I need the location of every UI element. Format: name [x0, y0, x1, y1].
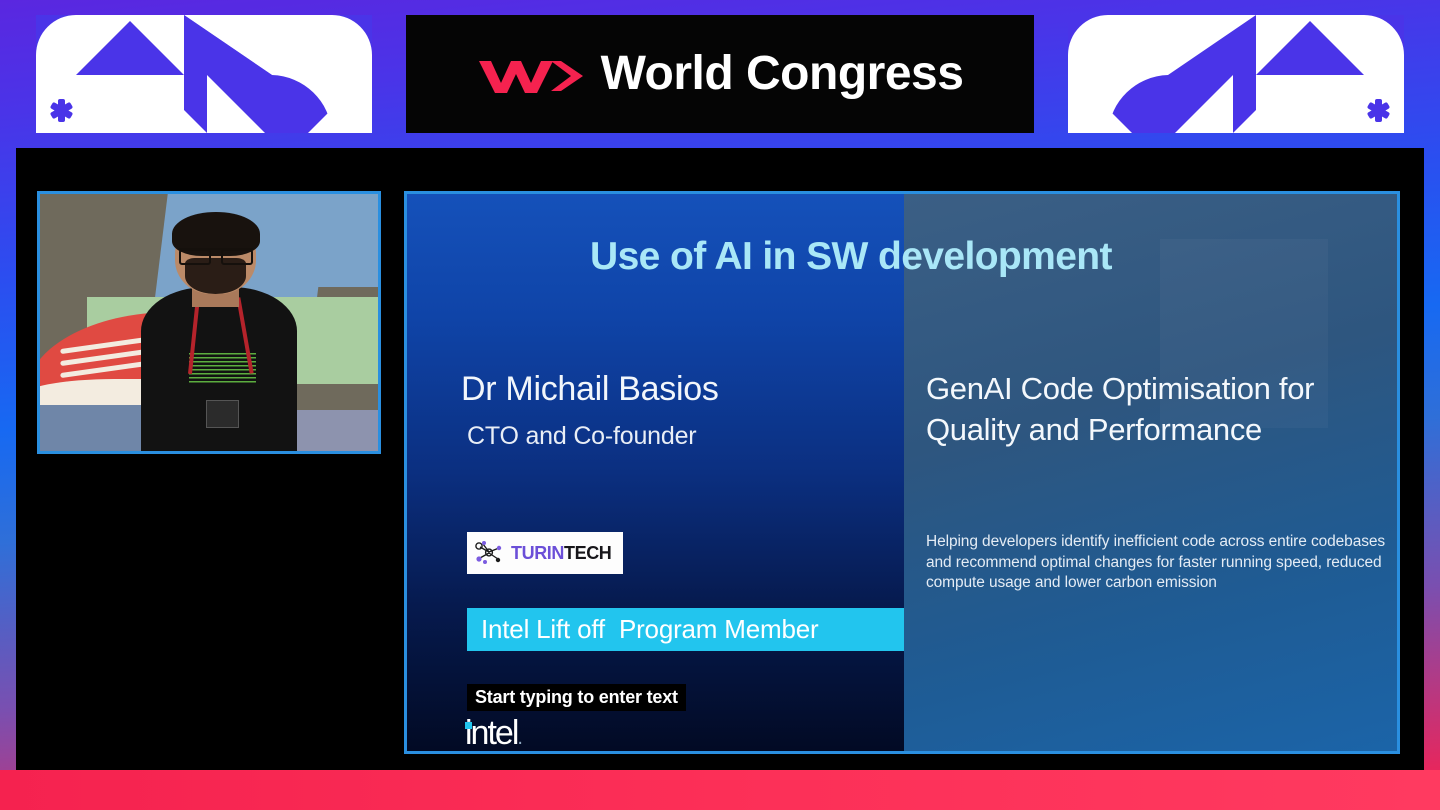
presentation-slide[interactable]: Dr Michail Basios CTO and Co-founder [404, 191, 1400, 754]
stage-content-area: Dr Michail Basios CTO and Co-founder [16, 148, 1424, 770]
wm-geometric-logo-right-icon [1068, 15, 1404, 133]
banner-title: World Congress [601, 50, 964, 98]
bottom-accent-bar [0, 770, 1440, 810]
intel-liftoff-badge-label: Intel Lift off Program Member [467, 614, 818, 645]
slide-title: Use of AI in SW development [590, 235, 1400, 279]
wm-geometric-logo-left-icon [36, 15, 372, 133]
wm-mark-icon [477, 51, 585, 97]
presenter-name: Dr Michail Basios [461, 370, 719, 409]
turintech-wordmark: TURINTECH [511, 543, 611, 564]
speaker-badge [206, 400, 240, 428]
speaker-glasses-icon [179, 248, 253, 258]
presenter-role: CTO and Co-founder [467, 422, 696, 451]
slide-body-text: Helping developers identify inefficient … [926, 532, 1400, 594]
text-placeholder-hint[interactable]: Start typing to enter text [467, 684, 686, 711]
intel-liftoff-badge: Intel Lift off Program Member [467, 608, 907, 651]
intel-logo-text: intel [465, 714, 517, 752]
slide-subheading: GenAI Code Optimisation for Quality and … [926, 369, 1396, 451]
intel-logo: intel. [465, 714, 521, 753]
world-congress-banner: World Congress [406, 15, 1034, 133]
intel-logo-dot [465, 722, 472, 729]
network-nodes-icon [474, 540, 506, 566]
turintech-word-secondary: TECH [564, 543, 611, 563]
stage-floor-shadow [40, 405, 155, 451]
intel-logo-period: . [517, 727, 521, 749]
turintech-logo: TURINTECH [467, 532, 623, 574]
speaker-video-feed[interactable] [37, 191, 381, 454]
turintech-word-primary: TURIN [511, 543, 564, 563]
backdrop-shape-blue-2 [283, 191, 381, 287]
page-header: World Congress [0, 0, 1440, 148]
backdrop-shoe-stripes [60, 343, 148, 400]
